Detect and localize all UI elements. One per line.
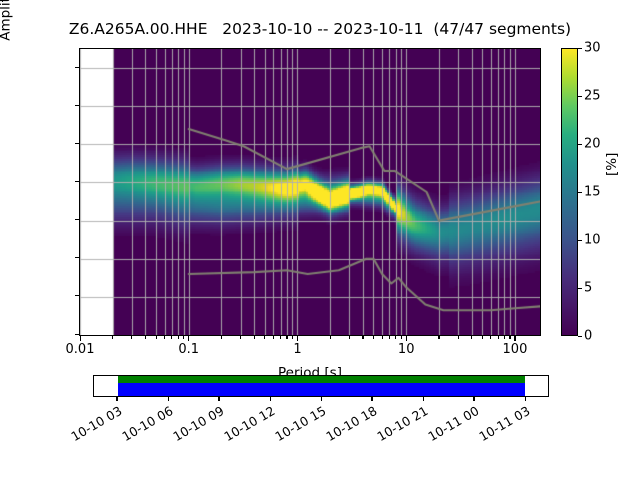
colorbar-tick-label: 10: [584, 233, 601, 248]
timeline-tick-mark: [371, 397, 372, 401]
x-tick-label: 10: [398, 342, 415, 357]
x-minor-tick-mark: [382, 336, 383, 339]
plot-title: Z6.A265A.00.HHE 2023-10-10 -- 2023-10-11…: [0, 20, 640, 38]
x-minor-tick-mark: [471, 336, 472, 339]
timeline-tick-mark: [423, 397, 424, 401]
colorbar-tick-mark: [578, 96, 582, 97]
x-minor-tick-mark: [498, 336, 499, 339]
x-tick-mark: [406, 336, 407, 341]
y-tick-mark: [75, 219, 79, 220]
x-minor-tick-mark: [389, 336, 390, 339]
x-minor-tick-mark: [395, 336, 396, 339]
x-minor-tick-mark: [373, 336, 374, 339]
x-tick-mark: [514, 336, 515, 341]
x-minor-tick-mark: [286, 336, 287, 339]
y-tick-mark: [75, 67, 79, 68]
x-minor-tick-mark: [131, 336, 132, 339]
timeline-tick-mark: [270, 397, 271, 401]
peterson-noise-model-curves: [80, 49, 540, 335]
x-minor-tick-mark: [171, 336, 172, 339]
x-minor-tick-mark: [292, 336, 293, 339]
colorbar-tick-mark: [578, 48, 582, 49]
x-tick-label: 0.1: [178, 342, 199, 357]
y-axis-label: Amplitude [m2/s4/Hz] [dB]: [0, 0, 14, 52]
timeline-tick-mark: [116, 397, 117, 401]
y-tick-mark: [75, 334, 79, 335]
x-tick-mark: [80, 336, 81, 341]
x-minor-tick-mark: [178, 336, 179, 339]
x-minor-tick-mark: [273, 336, 274, 339]
timeline-tick-label: 10-10 03: [63, 403, 124, 447]
x-minor-tick-mark: [183, 336, 184, 339]
x-tick-label: 1: [293, 342, 301, 357]
timeline-tick-mark: [525, 397, 526, 401]
colorbar-tick-label: 0: [584, 329, 592, 344]
x-minor-tick-mark: [156, 336, 157, 339]
y-tick-mark: [75, 257, 79, 258]
timeline-tick-mark: [321, 397, 322, 401]
x-minor-tick-mark: [145, 336, 146, 339]
colorbar-tick-mark: [578, 288, 582, 289]
timeline-tick-label: 10-10 12: [216, 403, 277, 447]
colorbar-tick-label: 20: [584, 137, 601, 152]
y-tick-mark: [75, 143, 79, 144]
y-tick-mark: [75, 105, 79, 106]
x-minor-tick-mark: [458, 336, 459, 339]
colorbar-tick-mark: [578, 144, 582, 145]
x-minor-tick-mark: [280, 336, 281, 339]
x-tick-mark: [188, 336, 189, 341]
timeline-tick-label: 10-10 09: [165, 403, 226, 447]
x-minor-tick-mark: [164, 336, 165, 339]
x-minor-tick-mark: [482, 336, 483, 339]
x-minor-tick-mark: [362, 336, 363, 339]
y-tick-mark: [75, 181, 79, 182]
x-minor-tick-mark: [254, 336, 255, 339]
ppsd-figure: Z6.A265A.00.HHE 2023-10-10 -- 2023-10-11…: [0, 0, 640, 480]
colorbar-tick-mark: [578, 240, 582, 241]
x-minor-tick-mark: [349, 336, 350, 339]
coverage-timeline-fill: [118, 376, 525, 396]
colorbar: [561, 48, 578, 336]
timeline-tick-mark: [218, 397, 219, 401]
x-minor-tick-mark: [504, 336, 505, 339]
ppsd-axes: [79, 48, 541, 336]
colorbar-label: [%]: [604, 116, 620, 176]
x-minor-tick-mark: [509, 336, 510, 339]
x-minor-tick-mark: [438, 336, 439, 339]
y-tick-mark: [75, 295, 79, 296]
x-tick-mark: [297, 336, 298, 341]
timeline-tick-mark: [168, 397, 169, 401]
colorbar-tick-label: 25: [584, 89, 601, 104]
colorbar-tick-mark: [578, 336, 582, 337]
timeline-tick-label: 10-10 18: [318, 403, 379, 447]
timeline-tick-mark: [473, 397, 474, 401]
x-minor-tick-mark: [240, 336, 241, 339]
timeline-tick-label: 10-10 21: [369, 403, 430, 447]
timeline-tick-label: 10-11 00: [420, 403, 481, 447]
timeline-tick-label: 10-10 06: [114, 403, 175, 447]
x-tick-label: 0.01: [66, 342, 95, 357]
x-minor-tick-mark: [112, 336, 113, 339]
colorbar-tick-label: 5: [584, 281, 592, 296]
timeline-available-bar: [118, 376, 525, 383]
x-minor-tick-mark: [264, 336, 265, 339]
coverage-timeline-axes[interactable]: [93, 375, 549, 397]
x-minor-tick-mark: [401, 336, 402, 339]
timeline-tick-label: 10-10 15: [267, 403, 328, 447]
timeline-used-bar: [118, 383, 525, 396]
x-minor-tick-mark: [490, 336, 491, 339]
colorbar-tick-mark: [578, 192, 582, 193]
timeline-tick-label: 10-11 03: [471, 403, 532, 447]
x-minor-tick-mark: [221, 336, 222, 339]
colorbar-tick-label: 30: [584, 41, 601, 56]
x-tick-label: 100: [503, 342, 528, 357]
x-minor-tick-mark: [330, 336, 331, 339]
colorbar-tick-label: 15: [584, 185, 601, 200]
